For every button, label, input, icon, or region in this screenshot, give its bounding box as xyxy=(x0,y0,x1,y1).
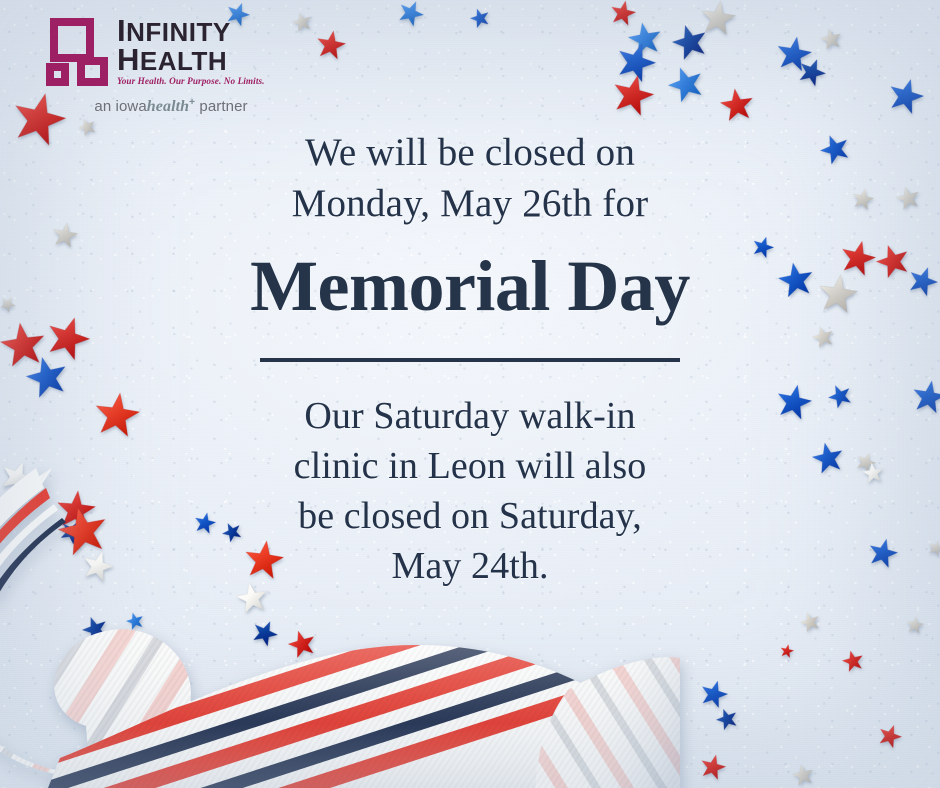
logo-square-small-bottom xyxy=(46,63,69,86)
confetti-star xyxy=(608,0,639,28)
iowahealth-partner-line: an iowahealth+ partner xyxy=(46,97,296,116)
confetti-star xyxy=(314,28,349,63)
memorial-day-poster: INFINITY HEALTH Your Health. Our Purpose… xyxy=(0,0,940,788)
confetti-star xyxy=(467,5,492,30)
confetti-star xyxy=(875,721,906,752)
confetti-star xyxy=(794,54,830,90)
partner-prefix: an iowa xyxy=(94,98,146,115)
body-line-1: Our Saturday walk-in xyxy=(0,392,940,442)
confetti-star xyxy=(773,33,815,75)
confetti-star xyxy=(818,26,844,52)
lead-line-1: We will be closed on xyxy=(0,128,940,179)
logo-square-medium-bottom xyxy=(77,57,108,86)
partner-suffix: partner xyxy=(195,98,248,115)
confetti-star xyxy=(697,751,729,783)
body-line-4: May 24th. xyxy=(0,542,940,592)
logo-line1-rest: NFINITY xyxy=(126,17,231,47)
confetti-star xyxy=(713,705,741,733)
confetti-star xyxy=(625,19,664,58)
lead-line-2: Monday, May 26th for xyxy=(0,179,940,230)
infinity-health-logo-mark xyxy=(46,16,108,86)
confetti-star xyxy=(668,20,713,65)
confetti-star xyxy=(884,74,929,119)
logo-line2-initial: H xyxy=(117,42,140,77)
confetti-star xyxy=(608,70,659,121)
body-paragraph: Our Saturday walk-in clinic in Leon will… xyxy=(0,392,940,591)
confetti-star xyxy=(779,643,796,660)
confetti-star xyxy=(840,648,867,675)
confetti-star xyxy=(797,609,822,634)
logo-square-large-top xyxy=(50,18,94,62)
logo-tagline: Your Health. Our Purpose. No Limits. xyxy=(117,76,265,86)
logo-wordmark-line2: HEALTH xyxy=(117,46,265,75)
logo-line2-rest: EALTH xyxy=(140,46,227,76)
confetti-star xyxy=(698,0,739,38)
closure-message: We will be closed on Monday, May 26th fo… xyxy=(0,128,940,591)
confetti-star xyxy=(905,615,925,635)
confetti-star xyxy=(718,86,756,124)
confetti-star xyxy=(611,37,661,87)
infinity-health-logo[interactable]: INFINITY HEALTH Your Health. Our Purpose… xyxy=(46,16,296,116)
confetti-star xyxy=(394,0,428,30)
body-line-2: clinic in Leon will also xyxy=(0,442,940,492)
holiday-title: Memorial Day xyxy=(0,250,940,322)
confetti-star xyxy=(663,61,709,107)
body-line-3: be closed on Saturday, xyxy=(0,492,940,542)
confetti-star xyxy=(697,677,732,712)
confetti-star xyxy=(790,762,816,788)
partner-brand: health xyxy=(147,98,189,115)
divider-rule xyxy=(260,358,680,362)
